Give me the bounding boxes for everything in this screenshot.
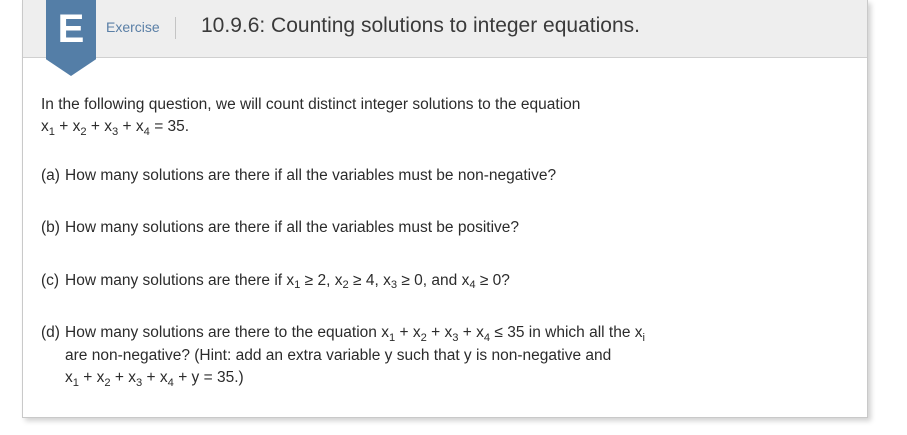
sub-2: 2	[421, 332, 427, 344]
rel-1: ≥ 2,	[300, 272, 334, 289]
rel-4: ≥ 0?	[476, 272, 510, 289]
exercise-body: In the following question, we will count…	[23, 58, 867, 417]
sub-2: 2	[104, 377, 110, 389]
question-b-label: (b)	[41, 217, 60, 239]
constraint-x3: x3 ≥ 0, and	[383, 272, 462, 289]
question-d-hint-equation: x1 + x2 + x3 + x4 + y = 35.)	[65, 367, 849, 389]
sub-1: 1	[73, 377, 79, 389]
question-d-prefix: How many solutions are there to the equa…	[65, 324, 381, 341]
var-x3: x	[128, 369, 136, 386]
question-d-label: (d)	[41, 322, 60, 344]
rel-2: ≥ 4,	[349, 272, 383, 289]
var-x4: x	[476, 324, 484, 341]
plus-1: +	[55, 118, 73, 135]
question-d: (d) How many solutions are there to the …	[41, 322, 849, 389]
equation-tail: = 35.	[150, 118, 189, 135]
intro-line-1: In the following question, we will count…	[41, 96, 580, 113]
sub-4: 4	[469, 279, 475, 291]
var-x2: x	[413, 324, 421, 341]
var-x4: x	[160, 369, 168, 386]
sub-1: 1	[294, 279, 300, 291]
question-d-mid: ≤ 35 in which all the	[490, 324, 635, 341]
sub-3: 3	[136, 377, 142, 389]
sub-4: 4	[168, 377, 174, 389]
var-x1: x	[381, 324, 389, 341]
var-x1: x	[65, 369, 73, 386]
var-x1: x	[41, 118, 49, 135]
question-c-prefix: How many solutions are there if	[65, 272, 286, 289]
sub-1: 1	[389, 332, 395, 344]
intro-paragraph: In the following question, we will count…	[41, 94, 849, 139]
constraint-x1: x1 ≥ 2,	[286, 272, 334, 289]
sub-2: 2	[342, 279, 348, 291]
sub-i: i	[643, 332, 645, 344]
sub-3: 3	[391, 279, 397, 291]
question-d-inequality: x1 + x2 + x3 + x4	[381, 324, 490, 341]
question-b-text: How many solutions are there if all the …	[65, 217, 849, 239]
constraint-x2: x2 ≥ 4,	[335, 272, 383, 289]
constraint-x4: x4 ≥ 0?	[462, 272, 510, 289]
sub-2: 2	[80, 126, 86, 138]
var-x3: x	[383, 272, 391, 289]
plus-2: +	[427, 324, 445, 341]
sub-3: 3	[452, 332, 458, 344]
var-x3: x	[104, 118, 112, 135]
exercise-kicker-label: Exercise	[106, 19, 160, 35]
sub-4: 4	[484, 332, 490, 344]
var-xi: xi	[635, 324, 645, 341]
var-x4: x	[136, 118, 144, 135]
question-d-text-line-2: are non-negative? (Hint: add an extra va…	[65, 345, 849, 367]
sub-4: 4	[144, 126, 150, 138]
question-c: (c) How many solutions are there if x1 ≥…	[41, 270, 849, 292]
plus-3: +	[458, 324, 476, 341]
question-a: (a) How many solutions are there if all …	[41, 165, 849, 187]
page-title: 10.9.6: Counting solutions to integer eq…	[201, 14, 640, 38]
plus-1: +	[79, 369, 97, 386]
question-d-text-line-1: How many solutions are there to the equa…	[65, 322, 849, 344]
plus-1: +	[395, 324, 413, 341]
card-header: Exercise 10.9.6: Counting solutions to i…	[23, 0, 867, 58]
question-c-text: How many solutions are there if x1 ≥ 2, …	[65, 270, 849, 292]
page-root: Exercise 10.9.6: Counting solutions to i…	[0, 0, 907, 435]
var-x1: x	[286, 272, 294, 289]
sub-1: 1	[49, 126, 55, 138]
question-a-text: How many solutions are there if all the …	[65, 165, 849, 187]
plus-2: +	[111, 369, 129, 386]
question-c-label: (c)	[41, 270, 59, 292]
shield-badge-letter: E	[46, 0, 96, 58]
equation-tail: + y = 35.)	[174, 369, 244, 386]
var-x-generic: x	[635, 324, 643, 341]
intro-equation: x1 + x2 + x3 + x4 = 35.	[41, 116, 849, 138]
question-b: (b) How many solutions are there if all …	[41, 217, 849, 239]
rel-3: ≥ 0, and	[397, 272, 462, 289]
header-divider	[175, 17, 176, 39]
question-a-label: (a)	[41, 165, 60, 187]
plus-3: +	[142, 369, 160, 386]
exercise-card: Exercise 10.9.6: Counting solutions to i…	[22, 0, 868, 418]
sub-3: 3	[112, 126, 118, 138]
plus-3: +	[118, 118, 136, 135]
plus-2: +	[87, 118, 105, 135]
